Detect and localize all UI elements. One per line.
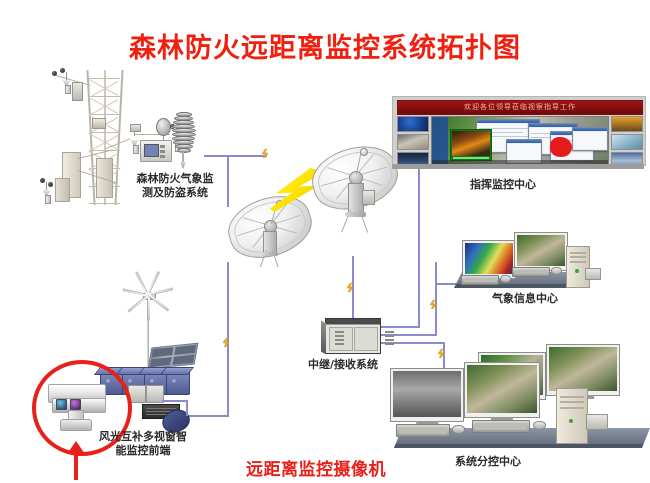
relay-label: 中继/接收系统 [308, 358, 378, 372]
link-relay-to-command-v [418, 166, 420, 328]
mouse [452, 425, 465, 434]
page-title: 森林防火远距离监控系统拓扑图 [0, 26, 650, 65]
keyboard [461, 275, 499, 285]
fire-hotspot-overlay [550, 137, 572, 157]
phone-icon [585, 268, 601, 280]
monitor [462, 240, 516, 279]
wall-thumb [611, 134, 643, 150]
front-end-label: 风光互补多视窗智 能监控前端 [88, 430, 198, 458]
front-end-label-line1: 风光互补多视窗智 [88, 430, 198, 444]
desktop-tower [566, 246, 590, 288]
keyboard [396, 424, 450, 437]
radiation-shield-icon [172, 112, 194, 154]
radiation-sensor-icon [130, 124, 141, 132]
weather-info-center-label: 气象信息中心 [492, 292, 558, 306]
callout-arrow-head [67, 441, 85, 454]
wireless-z-icon-5: ϟ [436, 348, 445, 359]
data-logger-icon [140, 140, 172, 162]
fire-alarm-window [450, 129, 492, 161]
tower-sensor-box [72, 82, 83, 101]
wall-banner-text: 欢迎各位领导莅临视察指导工作 [398, 101, 642, 114]
weather-station-label: 森林防火气象监 测及防盗系统 [125, 172, 225, 200]
wireless-z-icon-3: ϟ [345, 282, 354, 293]
keyboard [512, 267, 550, 277]
anemometer-cup-icon [60, 68, 65, 73]
dish-feed-horn-icon [360, 148, 368, 156]
camera-callout-label: 远距离监控摄像机 [246, 455, 386, 480]
rain-gauge-icon [62, 80, 71, 91]
wall-banner: 欢迎各位领导莅临视察指导工作 [397, 100, 643, 115]
rain-gauge-icon [42, 190, 51, 201]
front-end-label-line2: 能监控前端 [88, 444, 198, 458]
weather-station-label-line2: 测及防盗系统 [125, 186, 225, 200]
mouse [551, 267, 562, 275]
monitor [390, 368, 464, 422]
satellite-dish-icon-downlink [312, 148, 404, 258]
rain-gauge-icon [130, 140, 139, 151]
wind-vane-icon [156, 118, 171, 136]
rack-server-icon [325, 318, 381, 354]
anemometer-cup-icon [52, 71, 57, 76]
topology-diagram: 森林防火远距离监控系统拓扑图 ϟ ϟ ϟ ϟ ϟ [0, 0, 650, 483]
phone-icon [586, 414, 608, 430]
link-frontend-to-dish-h [186, 415, 229, 417]
wall-thumb [397, 116, 429, 132]
desktop-tower [556, 388, 588, 444]
weather-station-label-line1: 森林防火气象监 [125, 172, 225, 186]
callout-arrow-shaft [74, 452, 78, 480]
keyboard [472, 420, 530, 433]
wireless-z-icon-1: ϟ [260, 148, 269, 159]
wireless-z-icon-4: ϟ [428, 299, 437, 310]
mouse [500, 275, 511, 283]
anemometer-cup-icon [40, 178, 45, 183]
wall-thumb [611, 116, 643, 132]
tower-camera-icon [92, 118, 106, 129]
tower-cabinet-c [55, 178, 70, 202]
mouse [533, 421, 546, 430]
anemometer-cup-icon [48, 182, 53, 187]
wall-thumb [397, 134, 429, 150]
wireless-z-icon-2: ϟ [221, 337, 230, 348]
command-center-label: 指挥监控中心 [470, 178, 536, 192]
link-relay-to-command-h [379, 326, 420, 328]
wall-main-screen [431, 116, 609, 165]
dish-control-box [362, 190, 375, 205]
link-weather-to-dish-h [204, 155, 267, 157]
sub-control-center-label: 系统分控中心 [455, 455, 521, 469]
monitor [464, 362, 540, 418]
monitor [514, 232, 568, 271]
